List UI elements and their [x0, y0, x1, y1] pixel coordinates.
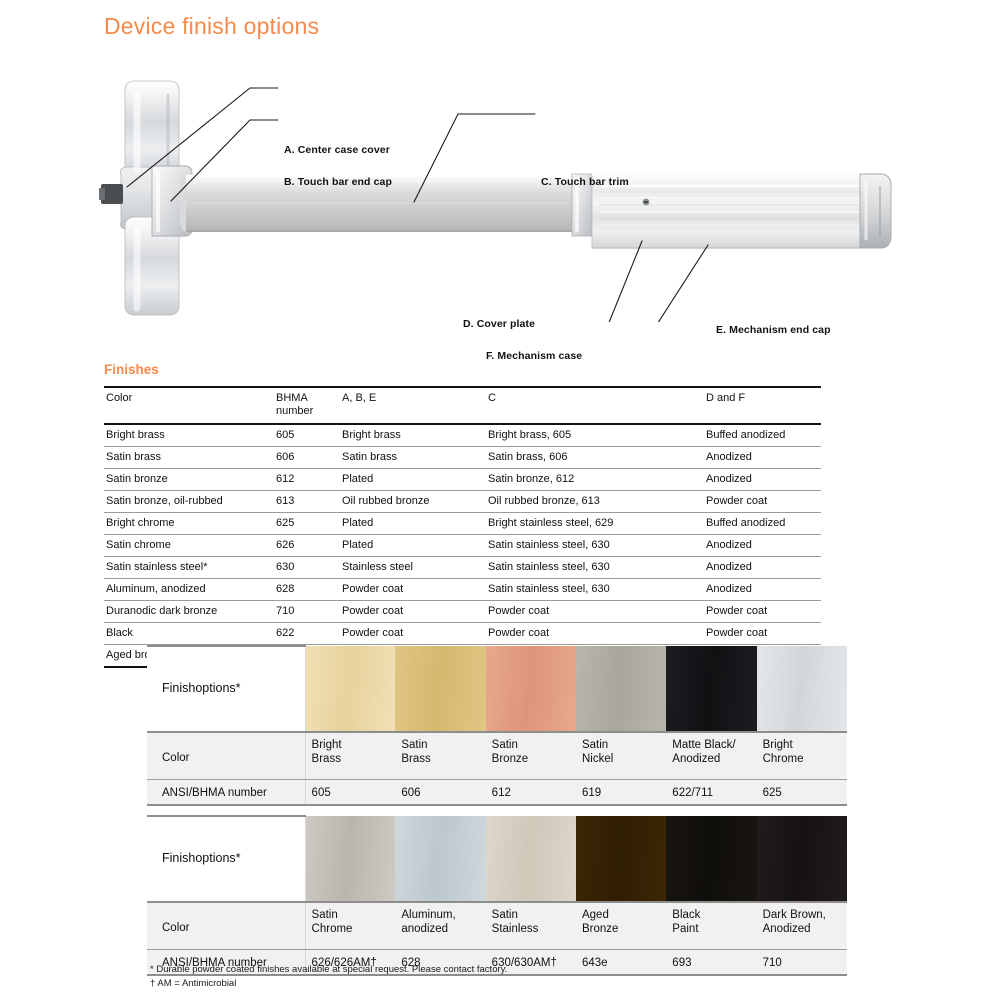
cell-abe: Satin brass: [340, 446, 486, 468]
cell-color: Satin bronze, oil-rubbed: [104, 490, 274, 512]
cell-color: Aluminum, anodized: [104, 578, 274, 600]
cell-c: Satin stainless steel, 630: [486, 534, 704, 556]
table-row: Duranodic dark bronze710Powder coatPowde…: [104, 600, 821, 622]
callout-d: D. Cover plate: [463, 318, 535, 330]
swatch-name-line1: Bright: [312, 738, 396, 752]
swatch-name-line1: Bright: [763, 738, 847, 752]
finishes-table-body: Bright brass605Bright brassBright brass,…: [104, 424, 821, 667]
row-label-color: Color: [147, 902, 305, 949]
callout-f: F. Mechanism case: [486, 350, 582, 362]
color-swatch: [666, 646, 756, 732]
color-swatch: [395, 816, 485, 902]
swatch-ansi-number: 622/711: [666, 779, 756, 805]
swatch-color-name: AgedBronze: [576, 902, 666, 949]
swatch-name-line2: Bronze: [492, 752, 576, 766]
swatch-number-row: ANSI/BHMA number605606612619622/711625: [147, 779, 847, 805]
header-c: C: [486, 387, 704, 424]
finishes-table: Color BHMA number A, B, E C D and F Brig…: [104, 386, 821, 668]
header-color: Color: [104, 387, 274, 424]
table-row: Aluminum, anodized628Powder coatSatin st…: [104, 578, 821, 600]
cell-color: Satin stainless steel*: [104, 556, 274, 578]
swatch-color-name: Dark Brown,Anodized: [757, 902, 847, 949]
cell-bhma: 710: [274, 600, 340, 622]
footnote-dagger: † AM = Antimicrobial: [150, 977, 507, 991]
swatch-color-name: SatinBrass: [395, 732, 485, 779]
swatch-name-line2: Chrome: [312, 922, 396, 936]
color-swatch: [576, 816, 666, 902]
cell-color: Bright brass: [104, 424, 274, 446]
swatch-name-line1: Satin: [312, 908, 396, 922]
swatch-name-line2: Anodized: [672, 752, 756, 766]
swatch-name-line1: Aged: [582, 908, 666, 922]
cell-color: Satin chrome: [104, 534, 274, 556]
cell-abe: Plated: [340, 468, 486, 490]
cell-c: Satin stainless steel, 630: [486, 556, 704, 578]
color-swatch: [486, 646, 576, 732]
table-row: Satin bronze612PlatedSatin bronze, 612An…: [104, 468, 821, 490]
finish-options-label-line1: Finish: [162, 681, 195, 695]
swatch-color-name: BlackPaint: [666, 902, 756, 949]
swatch-name-line1: Black: [672, 908, 756, 922]
swatch-name-line1: Satin: [492, 908, 576, 922]
swatch-name-line2: Nickel: [582, 752, 666, 766]
header-bhma: BHMA number: [274, 387, 340, 424]
swatch-name-line2: Chrome: [763, 752, 847, 766]
cell-df: Anodized: [704, 446, 821, 468]
table-row: Satin bronze, oil-rubbed613Oil rubbed br…: [104, 490, 821, 512]
swatch-color-name: SatinNickel: [576, 732, 666, 779]
table-row: Satin brass606Satin brassSatin brass, 60…: [104, 446, 821, 468]
swatch-name-line1: Satin: [582, 738, 666, 752]
table-row: Bright chrome625PlatedBright stainless s…: [104, 512, 821, 534]
swatch-name-line1: Matte Black/: [672, 738, 756, 752]
finish-options-label: Finishoptions*: [147, 816, 305, 902]
cell-bhma: 612: [274, 468, 340, 490]
table-row: Satin chrome626PlatedSatin stainless ste…: [104, 534, 821, 556]
swatch-name-line1: Dark Brown,: [763, 908, 847, 922]
cell-df: Powder coat: [704, 622, 821, 644]
finishes-table-head: Color BHMA number A, B, E C D and F: [104, 387, 821, 424]
table-row: Black622Powder coatPowder coatPowder coa…: [104, 622, 821, 644]
color-swatch: [486, 816, 576, 902]
row-label-color: Color: [147, 732, 305, 779]
swatch-strip-row: Finishoptions*: [147, 646, 847, 732]
header-abe: A, B, E: [340, 387, 486, 424]
swatch-name-line1: Satin: [401, 738, 485, 752]
swatch-ansi-number: 606: [395, 779, 485, 805]
cell-bhma: 625: [274, 512, 340, 534]
color-swatch: [395, 646, 485, 732]
cell-abe: Bright brass: [340, 424, 486, 446]
swatch-ansi-number: 643e: [576, 949, 666, 975]
swatch-ansi-number: 625: [757, 779, 847, 805]
exit-device-svg: [0, 62, 1000, 322]
swatch-strip-row: Finishoptions*: [147, 816, 847, 902]
cell-c: Powder coat: [486, 622, 704, 644]
swatch-name-line1: Satin: [492, 738, 576, 752]
callout-a: A. Center case cover: [284, 144, 390, 156]
cell-color: Satin brass: [104, 446, 274, 468]
swatch-color-row: ColorSatinChromeAluminum,anodizedSatinSt…: [147, 902, 847, 949]
footnotes: * Durable powder coated finishes availab…: [150, 963, 507, 991]
cell-abe: Powder coat: [340, 622, 486, 644]
finish-options-body-2: Finishoptions*ColorSatinChromeAluminum,a…: [147, 816, 847, 975]
cell-c: Satin brass, 606: [486, 446, 704, 468]
swatch-name-line2: anodized: [401, 922, 485, 936]
swatch-ansi-number: 605: [305, 779, 395, 805]
swatch-ansi-number: 693: [666, 949, 756, 975]
header-bhma-line1: BHMA: [276, 392, 308, 404]
swatch-color-name: BrightChrome: [757, 732, 847, 779]
finish-options-label-line2: options*: [195, 681, 240, 695]
cell-df: Buffed anodized: [704, 512, 821, 534]
callout-c: C. Touch bar trim: [541, 176, 629, 188]
swatch-name-line2: Brass: [401, 752, 485, 766]
color-swatch: [305, 646, 395, 732]
swatch-color-row: ColorBrightBrassSatinBrassSatinBronzeSat…: [147, 732, 847, 779]
swatch-ansi-number: 619: [576, 779, 666, 805]
color-swatch: [666, 816, 756, 902]
finish-options-table-1: Finishoptions*ColorBrightBrassSatinBrass…: [147, 645, 847, 806]
cell-color: Black: [104, 622, 274, 644]
table-row: Satin stainless steel*630Stainless steel…: [104, 556, 821, 578]
cell-c: Bright brass, 605: [486, 424, 704, 446]
row-label-ansi: ANSI/BHMA number: [147, 779, 305, 805]
header-bhma-line2: number: [276, 405, 313, 417]
table-row: Bright brass605Bright brassBright brass,…: [104, 424, 821, 446]
cell-abe: Plated: [340, 534, 486, 556]
cell-c: Oil rubbed bronze, 613: [486, 490, 704, 512]
swatch-ansi-number: 710: [757, 949, 847, 975]
finishes-heading: Finishes: [104, 362, 159, 377]
swatch-color-name: BrightBrass: [305, 732, 395, 779]
cell-abe: Plated: [340, 512, 486, 534]
cell-df: Anodized: [704, 468, 821, 490]
cell-df: Anodized: [704, 556, 821, 578]
cell-c: Satin bronze, 612: [486, 468, 704, 490]
color-swatch: [576, 646, 666, 732]
cell-abe: Oil rubbed bronze: [340, 490, 486, 512]
cell-color: Duranodic dark bronze: [104, 600, 274, 622]
cell-bhma: 630: [274, 556, 340, 578]
swatch-name-line1: Aluminum,: [401, 908, 485, 922]
color-swatch: [305, 816, 395, 902]
color-swatch: [757, 816, 847, 902]
cell-color: Satin bronze: [104, 468, 274, 490]
cell-bhma: 626: [274, 534, 340, 556]
cell-abe: Stainless steel: [340, 556, 486, 578]
cell-c: Bright stainless steel, 629: [486, 512, 704, 534]
swatch-color-name: SatinBronze: [486, 732, 576, 779]
header-df: D and F: [704, 387, 821, 424]
finish-options-label-line1: Finish: [162, 851, 195, 865]
cell-df: Buffed anodized: [704, 424, 821, 446]
color-swatch: [757, 646, 847, 732]
cell-df: Anodized: [704, 534, 821, 556]
cell-abe: Powder coat: [340, 578, 486, 600]
finish-options-table-2: Finishoptions*ColorSatinChromeAluminum,a…: [147, 815, 847, 976]
swatch-name-line2: Paint: [672, 922, 756, 936]
cell-df: Anodized: [704, 578, 821, 600]
swatch-color-name: SatinChrome: [305, 902, 395, 949]
finish-options-body-1: Finishoptions*ColorBrightBrassSatinBrass…: [147, 646, 847, 805]
cell-c: Satin stainless steel, 630: [486, 578, 704, 600]
swatch-name-line2: Anodized: [763, 922, 847, 936]
callout-e: E. Mechanism end cap: [716, 324, 831, 336]
cell-df: Powder coat: [704, 600, 821, 622]
swatch-color-name: Aluminum,anodized: [395, 902, 485, 949]
swatch-name-line2: Brass: [312, 752, 396, 766]
finish-options-label: Finishoptions*: [147, 646, 305, 732]
swatch-color-name: Matte Black/Anodized: [666, 732, 756, 779]
finish-options-label-line2: options*: [195, 851, 240, 865]
cell-bhma: 613: [274, 490, 340, 512]
cell-bhma: 628: [274, 578, 340, 600]
cell-df: Powder coat: [704, 490, 821, 512]
callout-b: B. Touch bar end cap: [284, 176, 392, 188]
cell-bhma: 622: [274, 622, 340, 644]
page-root: Device finish options: [0, 0, 1000, 1000]
cell-abe: Powder coat: [340, 600, 486, 622]
page-title: Device finish options: [104, 13, 319, 40]
footnote-asterisk: * Durable powder coated finishes availab…: [150, 963, 507, 977]
device-diagram: A. Center case cover B. Touch bar end ca…: [0, 62, 1000, 322]
table-header-row: Color BHMA number A, B, E C D and F: [104, 387, 821, 424]
mechanism-end-cap: [860, 174, 891, 248]
mechanism-case-body: [592, 174, 882, 248]
swatch-name-line2: Bronze: [582, 922, 666, 936]
cell-bhma: 605: [274, 424, 340, 446]
cell-bhma: 606: [274, 446, 340, 468]
cell-color: Bright chrome: [104, 512, 274, 534]
cell-c: Powder coat: [486, 600, 704, 622]
swatch-color-name: SatinStainless: [486, 902, 576, 949]
swatch-name-line2: Stainless: [492, 922, 576, 936]
swatch-ansi-number: 612: [486, 779, 576, 805]
